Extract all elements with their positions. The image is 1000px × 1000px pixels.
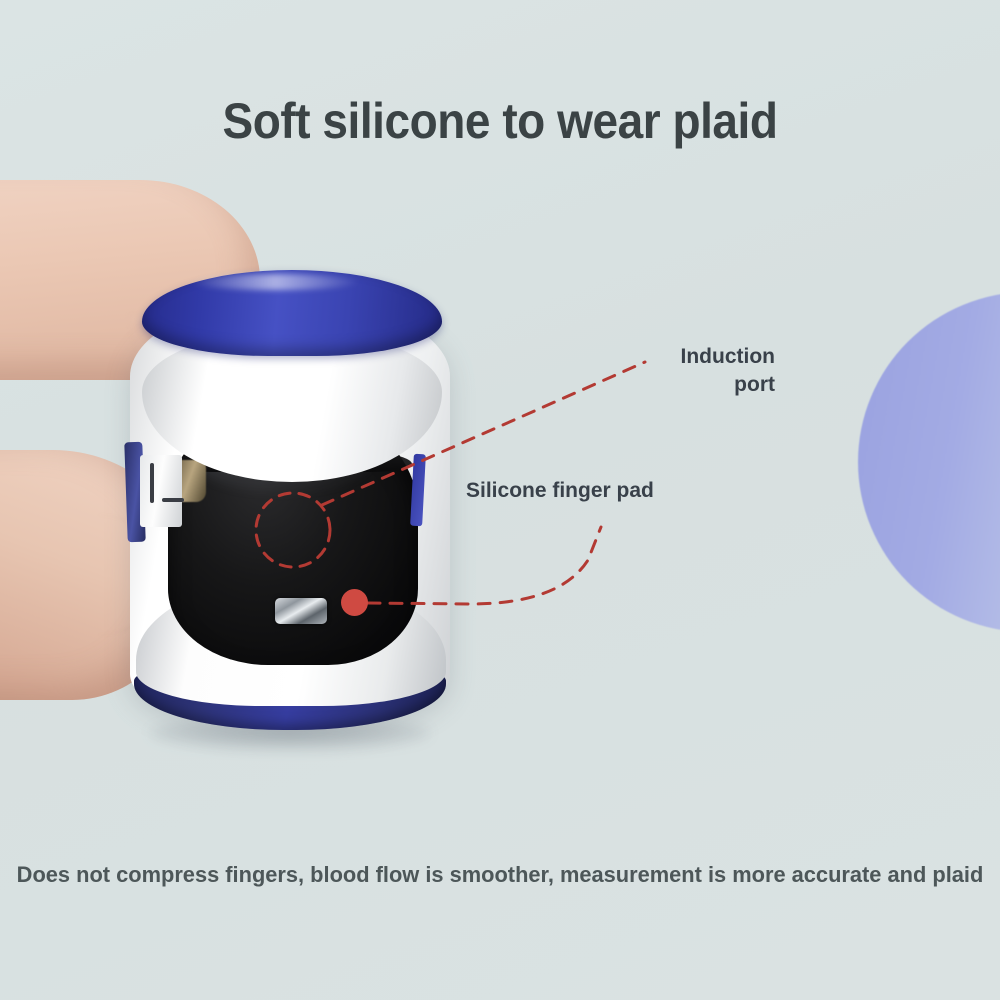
page-title: Soft silicone to wear plaid	[40, 92, 960, 150]
hinge-slot-vertical	[150, 463, 154, 503]
hinge-slot-horizontal	[162, 498, 184, 502]
infographic-page: Soft silicone to wear plaid	[0, 0, 1000, 1000]
silicone-pad-marker-dot	[341, 589, 368, 616]
silicone-finger-pad-label: Silicone finger pad	[466, 477, 706, 505]
hinge-housing	[140, 455, 182, 527]
induction-port-label: Induction port	[655, 343, 775, 398]
induction-port-window	[275, 598, 327, 624]
pulse-oximeter-device	[120, 260, 460, 760]
cap-gloss-highlight	[190, 274, 360, 290]
decorative-circle	[858, 292, 1000, 632]
page-caption: Does not compress fingers, blood flow is…	[15, 862, 985, 888]
